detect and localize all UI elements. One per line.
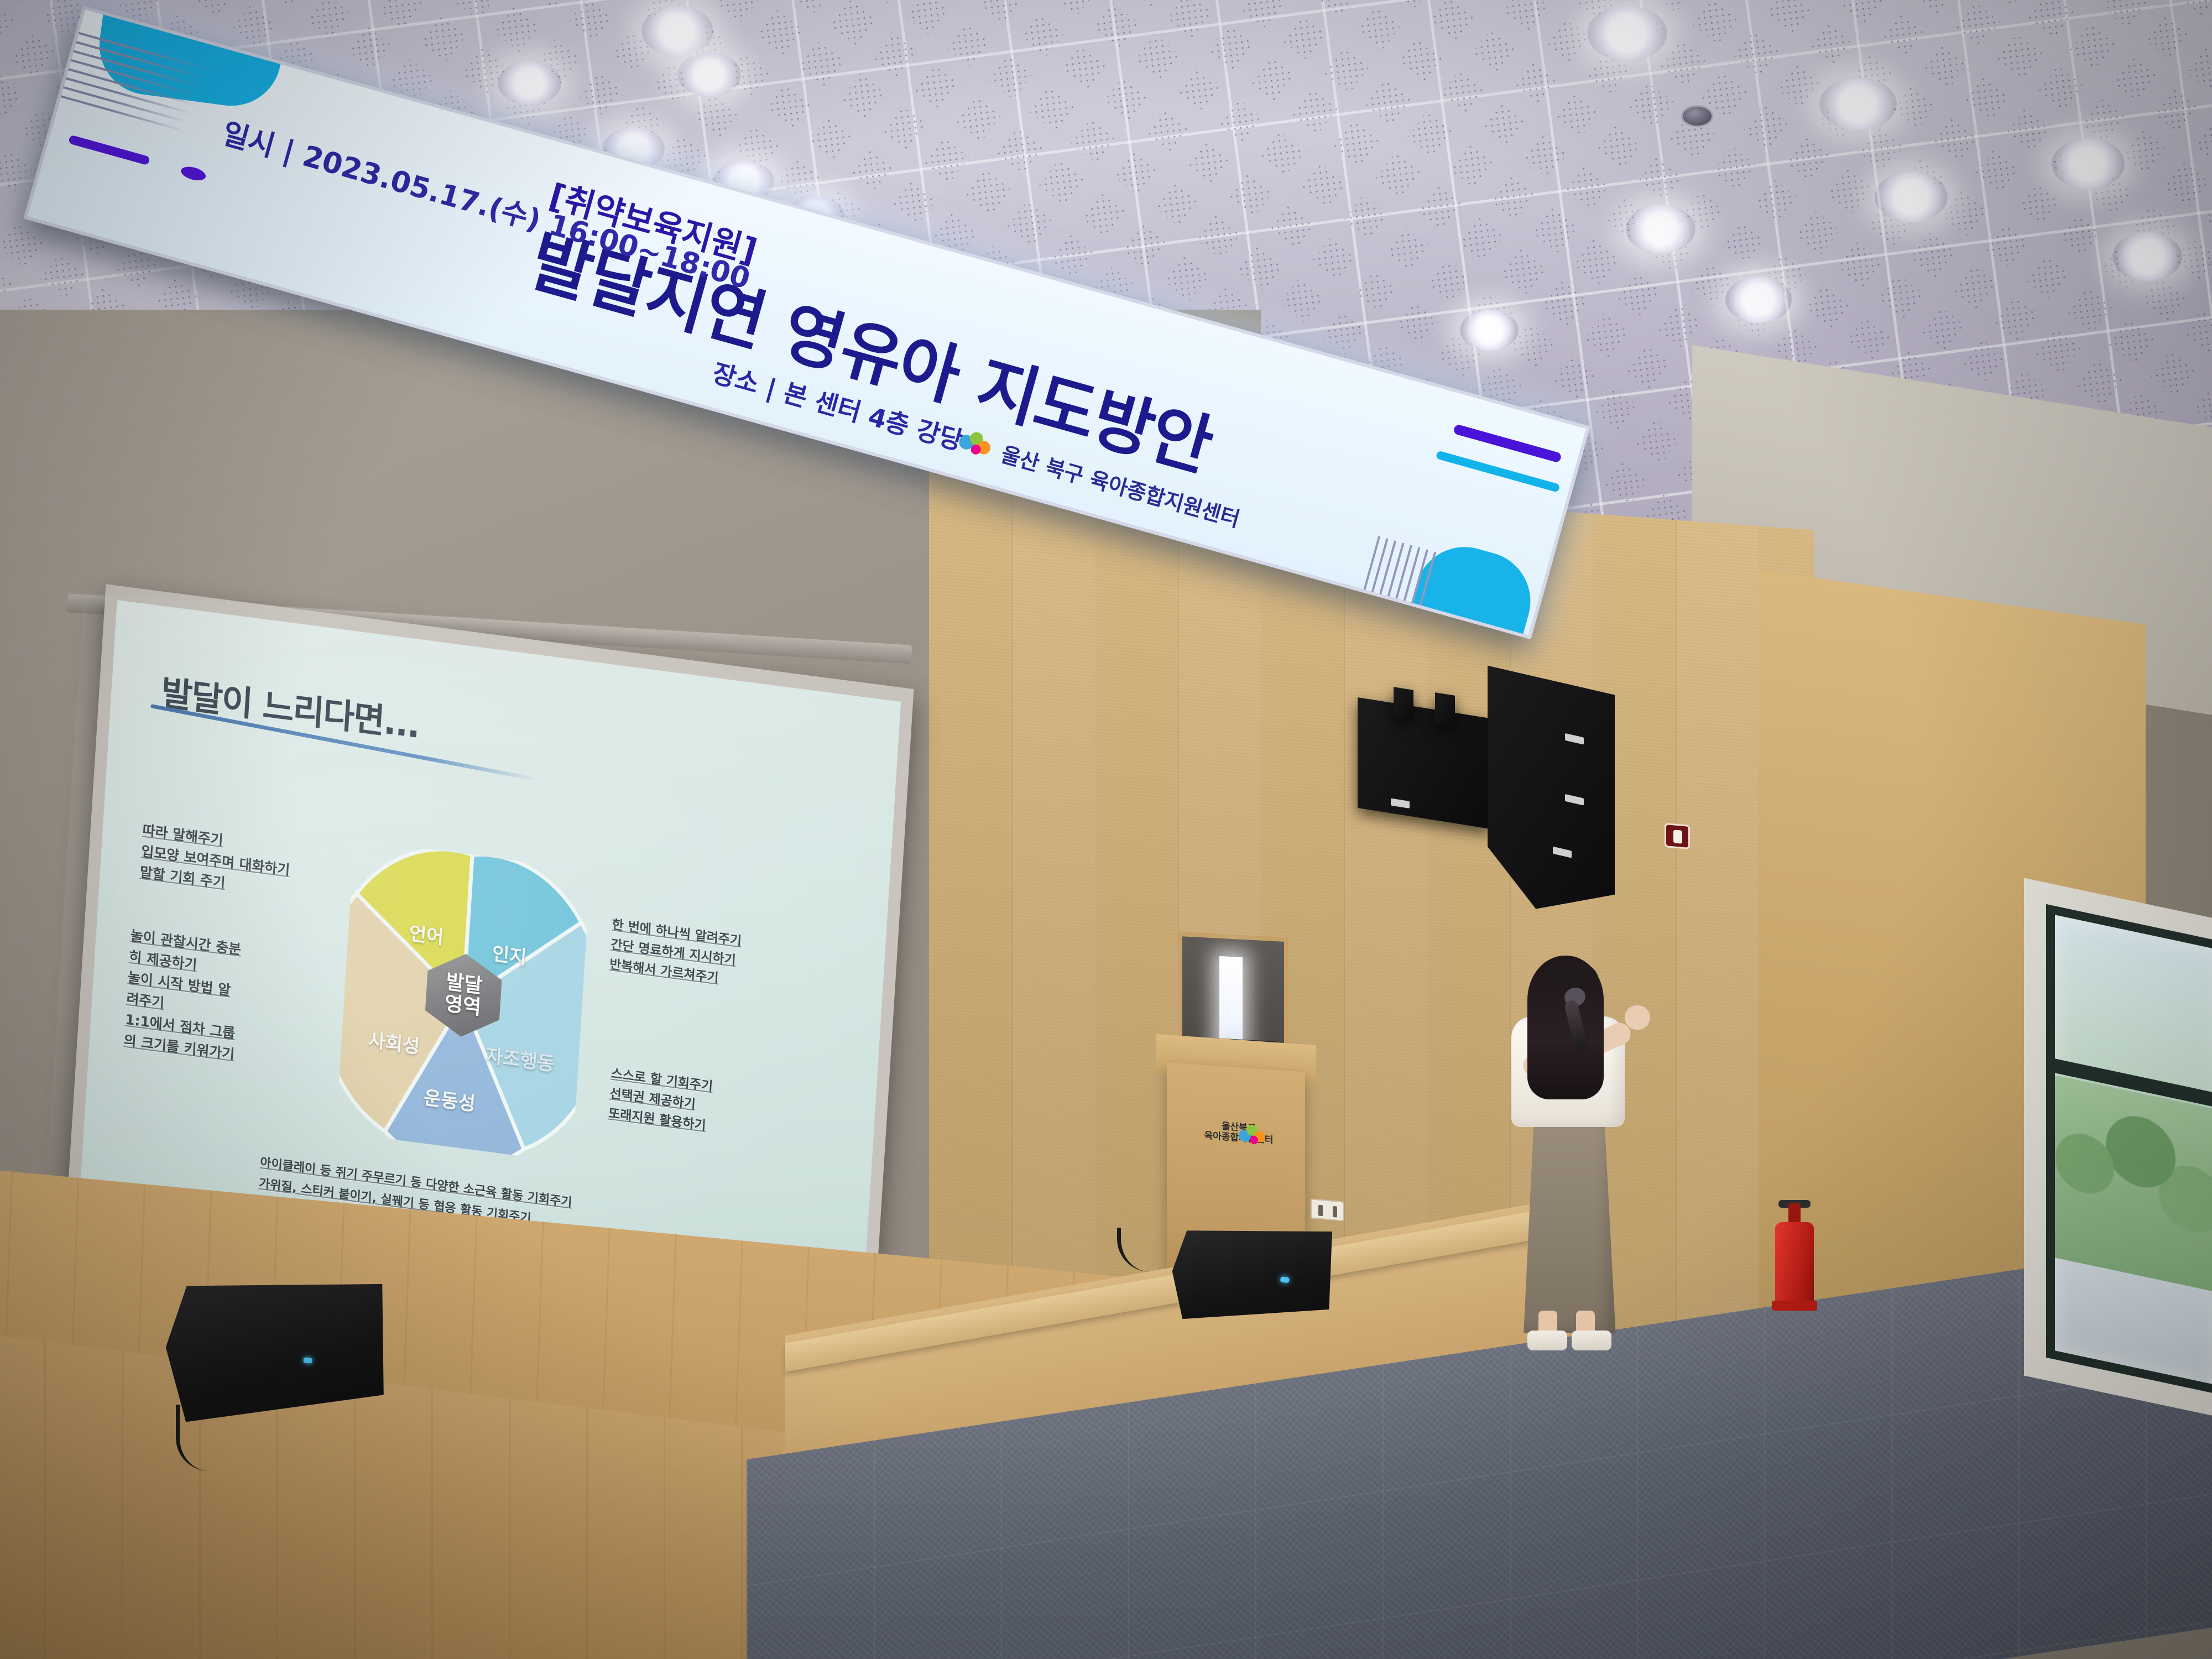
ceiling-downlight <box>498 61 561 105</box>
sprinkler-head-icon <box>1681 105 1713 127</box>
ceiling-downlight <box>2112 232 2182 281</box>
presenter-hair-front <box>1544 962 1599 991</box>
speaker-cable <box>176 1405 237 1471</box>
presenter <box>1493 935 1659 1371</box>
photo-scene: 발달이 느리다면... 언어 인지 자조행동 운동성 사회성 <box>0 0 2212 1659</box>
slide-title: 발달이 느리다면... <box>160 664 421 747</box>
ceiling-downlight <box>1819 77 1897 131</box>
presenter-left-sandal <box>1527 1331 1567 1350</box>
ceiling-downlight <box>1875 171 1948 222</box>
speaker-power-led <box>303 1357 312 1363</box>
wall-power-outlet[interactable] <box>1311 1198 1344 1221</box>
ceiling-downlight <box>641 6 713 56</box>
speaker-badge <box>1565 794 1584 806</box>
line-array-mount-bracket <box>1394 687 1413 721</box>
extinguisher-body <box>1775 1222 1814 1305</box>
presenter-skirt <box>1521 1112 1618 1333</box>
wheel-label-cognition: 인지 <box>492 938 528 970</box>
development-domain-wheel: 언어 인지 자조행동 운동성 사회성 발달 영역 <box>336 839 591 1162</box>
fire-alarm-indicator-icon <box>1665 823 1690 849</box>
ceiling-downlight <box>2052 138 2125 189</box>
speaker-badge <box>1391 798 1410 808</box>
ceiling-downlight <box>1626 205 1695 253</box>
exterior-window <box>2046 904 2212 1396</box>
line-array-mount-bracket <box>1435 692 1455 726</box>
ceiling-downlight <box>1587 6 1667 61</box>
extinguisher-base <box>1772 1301 1817 1311</box>
ceiling-downlight <box>1725 276 1792 323</box>
ceiling-downlight <box>677 53 741 97</box>
presenter-left-hand <box>1625 1005 1650 1030</box>
ceiling-downlight <box>1460 310 1519 351</box>
wheel-label-language: 언어 <box>409 918 445 950</box>
doorway-light <box>1219 956 1243 1048</box>
window-view-trees <box>2055 1075 2212 1292</box>
bullet-social-4: 려주기 <box>126 989 165 1013</box>
banner-purple-dot-icon <box>180 164 207 183</box>
banner-datetime-label: 일시 | <box>218 117 298 169</box>
speaker-badge <box>1553 847 1572 858</box>
banner-purple-dash-icon <box>68 135 150 166</box>
presenter-right-sandal <box>1572 1331 1611 1350</box>
banner-purple-bar-icon <box>1453 424 1562 463</box>
fire-extinguisher-icon <box>1775 1200 1814 1305</box>
wheel-hub-line2: 영역 <box>444 993 482 1019</box>
speaker-badge <box>1565 733 1584 745</box>
speaker-power-led <box>1280 1276 1290 1283</box>
line-array-speaker-front <box>1358 697 1490 829</box>
